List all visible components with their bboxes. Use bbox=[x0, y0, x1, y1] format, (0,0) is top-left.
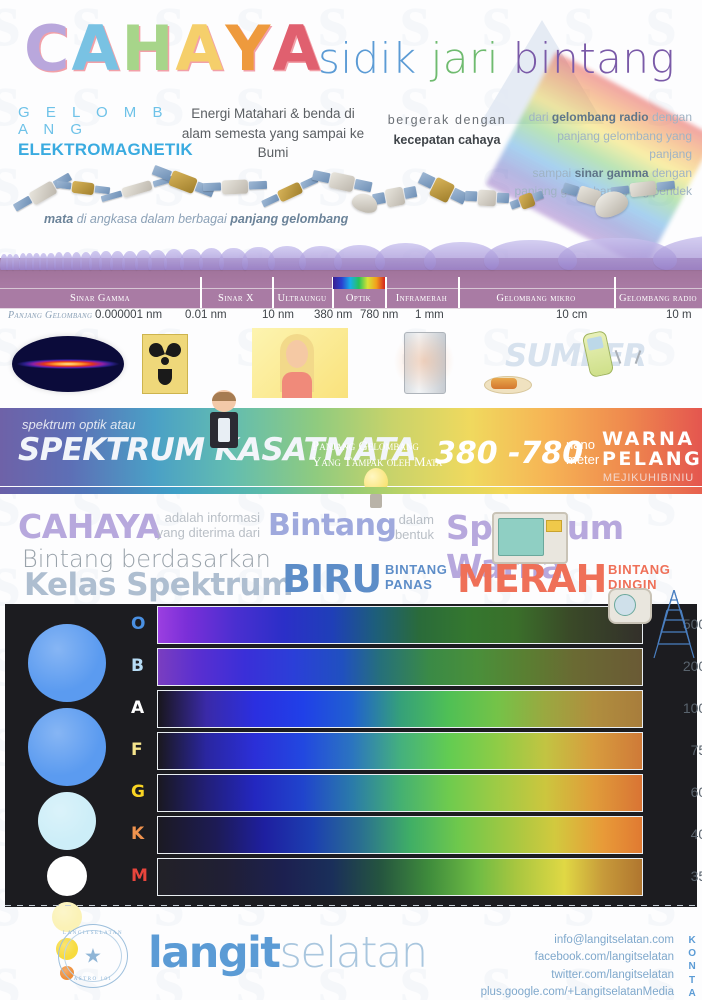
spectrum-row-k bbox=[157, 816, 643, 854]
bintang-dingin-line1: BINTANG bbox=[608, 563, 670, 578]
title-letter-5: A bbox=[272, 18, 322, 80]
unit-label: nano meter bbox=[566, 438, 599, 468]
satellite-icon-8 bbox=[429, 177, 456, 204]
solar-panel-left bbox=[55, 181, 71, 190]
wave-caption: mata di angkasa dalam berbagai panjang g… bbox=[44, 212, 348, 226]
satellite-body bbox=[478, 190, 497, 207]
bintang-panas-tag: BINTANG PANAS bbox=[385, 563, 447, 593]
seal-bottom-text: ASTRO 101 bbox=[59, 976, 127, 982]
page-subtitle: sidik jari bintang bbox=[318, 34, 675, 83]
satellite-body bbox=[329, 172, 356, 193]
satellite-body bbox=[384, 186, 405, 207]
class-letter-g: G bbox=[131, 782, 145, 802]
stellar-spectra-chart: OBAFGKM 50000 K20000 K10000 K7500 K6000 … bbox=[5, 604, 697, 907]
satellite-body bbox=[277, 181, 304, 202]
band-label-2: Ultraungu bbox=[272, 289, 332, 308]
class-letter-o: O bbox=[131, 614, 145, 634]
xray-person-icon bbox=[204, 390, 244, 456]
temperature-label-b: 20000 K bbox=[649, 658, 702, 674]
satellite-body bbox=[71, 181, 94, 196]
satellite-icon-10 bbox=[518, 192, 536, 210]
contact-line-1[interactable]: facebook.com/langitselatan bbox=[481, 949, 674, 966]
temperature-label-m: 3500 K bbox=[649, 868, 702, 884]
mobile-phone-icon bbox=[582, 330, 615, 378]
solar-panel-right bbox=[497, 193, 510, 203]
panjang-gelombang-tampak: Panjang Gelombang Yang Tampak oleh Mata bbox=[312, 438, 442, 471]
brand-selatan: selatan bbox=[279, 928, 426, 978]
bergerak-dengan-label: bergerak dengan bbox=[382, 110, 512, 130]
mata-label: mata bbox=[44, 212, 73, 226]
optical-spectrum-strip bbox=[333, 277, 385, 289]
pelangi-label: PELANGI bbox=[602, 450, 694, 470]
em-band-bar: Sinar GammaSinar XUltraunguOptikInframer… bbox=[0, 288, 702, 309]
logo-seal: LANGITSELATAN ★ ASTRO 101 bbox=[58, 924, 128, 988]
title-letter-0: C bbox=[24, 18, 72, 80]
bentuk-line: bentuk bbox=[392, 528, 434, 543]
star-a bbox=[38, 792, 96, 850]
visible-spectrum-banner: spektrum optik atau SPEKTRUM KASATMATA P… bbox=[0, 408, 702, 486]
footer-section: LANGITSELATAN ★ ASTRO 101 langitselatan … bbox=[0, 908, 702, 1000]
microwave-window bbox=[498, 518, 544, 556]
warna-pelangi-block: WARNA PELANGI MEJIKUHIBINIU bbox=[602, 430, 694, 484]
band-label-0: Sinar Gamma bbox=[0, 289, 200, 308]
band-label-6: Gelombang radio bbox=[614, 289, 702, 308]
class-letter-k: K bbox=[131, 824, 144, 844]
spectrum-row-a bbox=[157, 690, 643, 728]
pg-line1: Panjang Gelombang bbox=[312, 438, 442, 454]
satellite-icon-9 bbox=[478, 190, 497, 207]
satellite-body bbox=[121, 180, 153, 198]
band-label-1: Sinar X bbox=[200, 289, 272, 308]
satellite-icon-3 bbox=[168, 170, 198, 194]
em-wave-30 bbox=[653, 235, 702, 270]
contact-line-0[interactable]: info@langitselatan.com bbox=[481, 932, 674, 949]
warna-label: WARNA bbox=[602, 430, 694, 450]
satellite-icon-7 bbox=[384, 186, 405, 207]
panjang-gelombang-panjang-label: panjang gelombang yang panjang bbox=[512, 127, 692, 164]
tv-antenna-left bbox=[615, 350, 621, 364]
brand-langit: langit bbox=[148, 928, 279, 978]
kontak-vertical-label: KONTAK bbox=[688, 934, 696, 1000]
solar-panel-right bbox=[403, 186, 417, 199]
bintang-panas-line1: BINTANG bbox=[385, 563, 447, 578]
solar-panel-left bbox=[562, 182, 580, 196]
temperature-label-a: 10000 K bbox=[649, 700, 702, 716]
title-letter-1: A bbox=[72, 18, 122, 80]
spectrum-row-b bbox=[157, 648, 643, 686]
wavelength-value-3: 380 nm bbox=[314, 309, 352, 321]
wavelength-row: Panjang Gelombang 0.000001 nm0.01 nm10 n… bbox=[0, 308, 702, 328]
satellite-icon-0 bbox=[28, 180, 58, 205]
kontak-letter: N bbox=[688, 960, 696, 973]
band-label-5: Gelombang mikro bbox=[458, 289, 614, 308]
unit-meter: meter bbox=[566, 453, 599, 468]
satellite-icon-6 bbox=[329, 172, 356, 193]
wavelength-caption: Panjang Gelombang bbox=[8, 310, 92, 321]
band-separator-1 bbox=[272, 277, 274, 308]
heat-glow-icon bbox=[394, 330, 454, 392]
title-letter-4: Y bbox=[225, 18, 272, 80]
statement-section: CAHAYA adalah informasi yang diterima da… bbox=[0, 495, 702, 600]
spectrum-row-o bbox=[157, 606, 643, 644]
seal-top-text: LANGITSELATAN bbox=[59, 930, 127, 936]
subtitle-word-1: jari bbox=[431, 34, 499, 83]
solar-panel-left bbox=[151, 165, 171, 180]
class-letter-a: A bbox=[131, 698, 144, 718]
sources-icons-row bbox=[0, 328, 702, 408]
solar-panel-right bbox=[249, 181, 267, 190]
dengan-label: dengan bbox=[649, 110, 692, 124]
page-title: CAHAYA bbox=[24, 18, 322, 80]
radioactive-icon bbox=[142, 334, 188, 394]
satellite-body bbox=[222, 180, 248, 195]
dalam-bentuk-text: dalam bentuk bbox=[392, 513, 434, 542]
spectrum-row-g bbox=[157, 774, 643, 812]
satellite-icon-2 bbox=[121, 180, 153, 198]
spectrum-row-m bbox=[157, 858, 643, 896]
class-letter-b: B bbox=[131, 656, 144, 676]
wavelength-range-value: 380 -780 bbox=[435, 436, 583, 471]
television-icon bbox=[608, 588, 652, 624]
wavelength-value-6: 10 cm bbox=[556, 309, 587, 321]
microwave-pizza-icon bbox=[492, 512, 568, 564]
header-col-speed: bergerak dengan kecepatan cahaya bbox=[382, 110, 512, 150]
band-label-3: Optik bbox=[332, 289, 385, 308]
band-separator-3 bbox=[385, 277, 387, 308]
kelas-spektrum-text: Kelas Spektrum bbox=[24, 567, 293, 603]
gelombang-label: G E L O M B A N G bbox=[18, 104, 178, 138]
panjang-gelombang-label: panjang gelombang bbox=[230, 212, 348, 226]
wavelength-value-4: 780 nm bbox=[360, 309, 398, 321]
satellite-body bbox=[168, 170, 198, 194]
class-letter-f: F bbox=[131, 740, 143, 760]
star-f bbox=[47, 856, 87, 896]
elektromagnetik-label: ELEKTROMAGNETIK bbox=[18, 140, 178, 160]
band-separator-0 bbox=[200, 277, 202, 308]
biru-word: BIRU bbox=[282, 557, 381, 601]
spektrum-optik-label: spektrum optik atau bbox=[22, 417, 135, 432]
wavelength-value-2: 10 nm bbox=[262, 309, 294, 321]
temperature-label-f: 7500 K bbox=[649, 742, 702, 758]
kontak-letter: K bbox=[688, 934, 696, 947]
solar-panel-left bbox=[202, 183, 220, 192]
tv-antenna-right bbox=[635, 350, 641, 364]
adalah-informasi-text: adalah informasi yang diterima dari bbox=[152, 511, 260, 540]
bintang-panas-line2: PANAS bbox=[385, 578, 447, 593]
solar-panel-right bbox=[657, 181, 676, 191]
contact-list: info@langitselatan.comfacebook.com/langi… bbox=[481, 932, 674, 1000]
wavelength-value-7: 10 m bbox=[666, 309, 692, 321]
title-letter-3: A bbox=[175, 18, 225, 80]
dari-label: dari bbox=[529, 110, 552, 124]
gelombang-radio-label: gelombang radio bbox=[552, 110, 649, 124]
galaxy-icon bbox=[12, 336, 124, 392]
header-section: CAHAYA sidik jari bintang G E L O M B A … bbox=[0, 0, 702, 182]
contact-line-2[interactable]: twitter.com/langitselatan bbox=[481, 967, 674, 984]
adalah-line1: adalah informasi bbox=[152, 511, 260, 526]
kecepatan-cahaya-label: kecepatan cahaya bbox=[393, 133, 500, 147]
subtitle-word-0: sidik bbox=[318, 34, 417, 83]
dalam-line: dalam bbox=[392, 513, 434, 528]
spectrum-row-f bbox=[157, 732, 643, 770]
cahaya-word: CAHAYA bbox=[18, 507, 161, 546]
temperature-label-g: 6000 K bbox=[649, 784, 702, 800]
header-col-energy: Energi Matahari & benda di alam semesta … bbox=[178, 104, 368, 163]
band-separator-5 bbox=[614, 277, 616, 308]
class-letter-m: M bbox=[131, 866, 148, 886]
di-angkasa-label: di angkasa dalam berbagai bbox=[73, 212, 230, 226]
adalah-line2: yang diterima dari bbox=[152, 526, 260, 541]
satellite-icon-12 bbox=[629, 181, 656, 198]
mejikuhibiniu-label: MEJIKUHIBINIU bbox=[602, 472, 694, 484]
rainbow-divider bbox=[0, 487, 702, 494]
wavelength-value-5: 1 mm bbox=[415, 309, 444, 321]
satellite-icon-4 bbox=[222, 180, 248, 195]
solar-panel-right bbox=[533, 190, 545, 201]
satellites-row bbox=[0, 168, 702, 238]
satellite-body bbox=[28, 180, 58, 205]
solar-panel-right bbox=[354, 179, 372, 192]
contact-line-3[interactable]: plus.google.com/+LangitselatanMedia bbox=[481, 984, 674, 1000]
pizza-plate-icon bbox=[484, 376, 532, 394]
spectra-rows: 50000 K20000 K10000 K7500 K6000 K4000 K3… bbox=[157, 604, 697, 907]
temperature-label-k: 4000 K bbox=[649, 826, 702, 842]
subtitle-word-2: bintang bbox=[513, 34, 675, 83]
radio-tower-icon bbox=[650, 590, 698, 660]
infographic-page: ssssssssssssssssssssssssssssssssssssssss… bbox=[0, 0, 702, 1000]
solar-panel-left bbox=[261, 194, 279, 208]
brand-logo[interactable]: langitselatan bbox=[148, 932, 427, 975]
header-col-electromagnetic: G E L O M B A N G ELEKTROMAGNETIK bbox=[18, 104, 178, 160]
satellite-icon-5 bbox=[277, 181, 304, 202]
title-letter-2: H bbox=[122, 18, 176, 80]
satellite-body bbox=[629, 181, 656, 198]
sunbathing-woman-icon bbox=[252, 328, 348, 398]
solar-panel-left bbox=[12, 196, 32, 212]
star-size-column: OBAFGKM bbox=[5, 604, 153, 907]
unit-nano: nano bbox=[566, 438, 599, 453]
wavelength-value-0: 0.000001 nm bbox=[95, 309, 162, 321]
band-separator-4 bbox=[458, 277, 460, 308]
kontak-letter: T bbox=[688, 974, 696, 987]
band-label-4: Inframerah bbox=[385, 289, 458, 308]
star-o bbox=[28, 624, 106, 702]
wavelength-value-1: 0.01 nm bbox=[185, 309, 227, 321]
kontak-letter: O bbox=[688, 947, 696, 960]
chart-bottom-divider bbox=[5, 905, 697, 906]
kontak-letter: A bbox=[688, 987, 696, 1000]
tv-screen bbox=[614, 594, 636, 616]
star-b bbox=[28, 708, 106, 786]
seal-centaur-icon: ★ bbox=[84, 944, 102, 969]
solar-panel-left bbox=[464, 191, 477, 201]
satellite-icon-1 bbox=[71, 181, 94, 196]
